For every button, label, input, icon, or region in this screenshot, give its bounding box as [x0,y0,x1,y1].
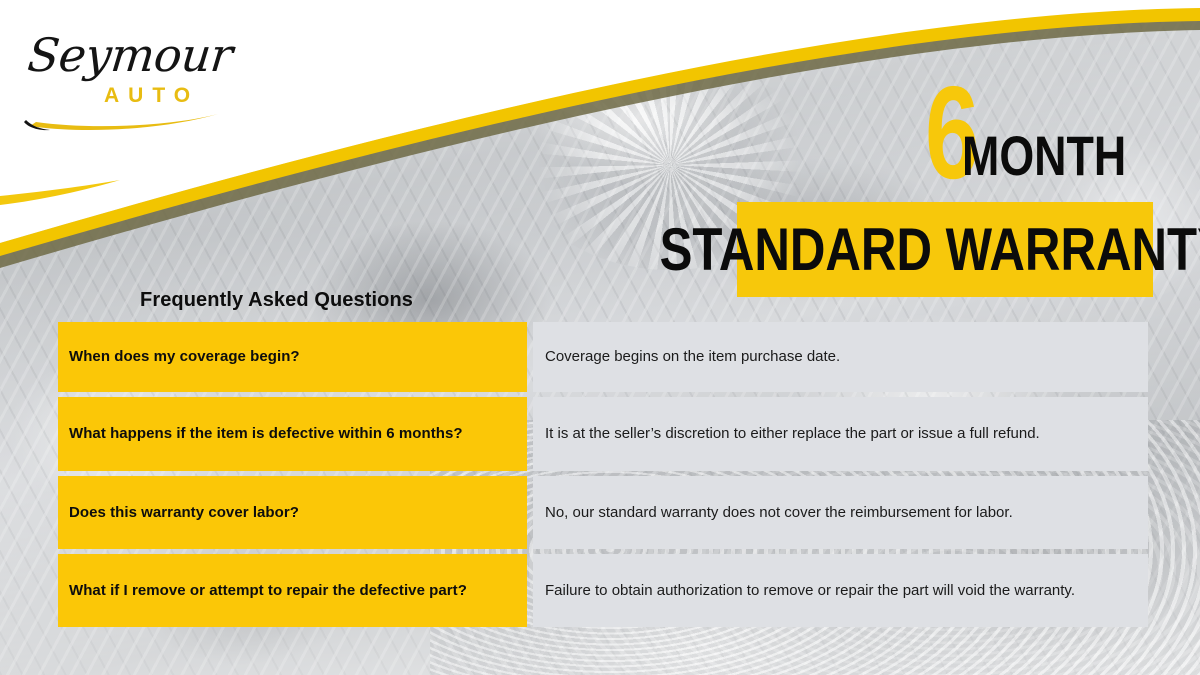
warranty-faq-slide: Seymour AUTO 6 MONTH STANDARD WARRANTY F… [0,0,1200,675]
faq-answer-text: Coverage begins on the item purchase dat… [545,347,840,367]
faq-answer-cell: Coverage begins on the item purchase dat… [533,322,1148,392]
faq-answer-text: Failure to obtain authorization to remov… [545,581,1075,601]
seymour-auto-logo: Seymour AUTO [22,22,232,134]
standard-warranty-label: STANDARD WARRANTY [660,220,1200,280]
logo-swoosh-icon [22,100,232,134]
table-row: When does my coverage begin? Coverage be… [58,322,1148,392]
table-row: What happens if the item is defective wi… [58,397,1148,471]
faq-answer-cell: It is at the seller’s discretion to eith… [533,397,1148,471]
faq-answer-cell: Failure to obtain authorization to remov… [533,554,1148,627]
faq-answer-text: It is at the seller’s discretion to eith… [545,424,1040,444]
table-row: What if I remove or attempt to repair th… [58,554,1148,627]
faq-question-cell: Does this warranty cover labor? [58,476,527,549]
standard-warranty-banner: STANDARD WARRANTY [737,202,1153,297]
faq-answer-cell: No, our standard warranty does not cover… [533,476,1148,549]
warranty-months-unit: MONTH [962,132,1126,180]
faq-question-cell: When does my coverage begin? [58,322,527,392]
faq-question-cell: What happens if the item is defective wi… [58,397,527,471]
warranty-duration-headline: 6 MONTH [925,74,1168,186]
faq-question-text: What happens if the item is defective wi… [69,424,463,444]
faq-question-text: What if I remove or attempt to repair th… [69,581,467,601]
faq-section-heading: Frequently Asked Questions [140,289,413,312]
table-row: Does this warranty cover labor? No, our … [58,476,1148,549]
faq-table: When does my coverage begin? Coverage be… [58,322,1148,627]
faq-question-cell: What if I remove or attempt to repair th… [58,554,527,627]
faq-answer-text: No, our standard warranty does not cover… [545,503,1013,523]
faq-question-text: Does this warranty cover labor? [69,503,299,523]
logo-script-text: Seymour [25,28,235,82]
faq-question-text: When does my coverage begin? [69,347,300,367]
